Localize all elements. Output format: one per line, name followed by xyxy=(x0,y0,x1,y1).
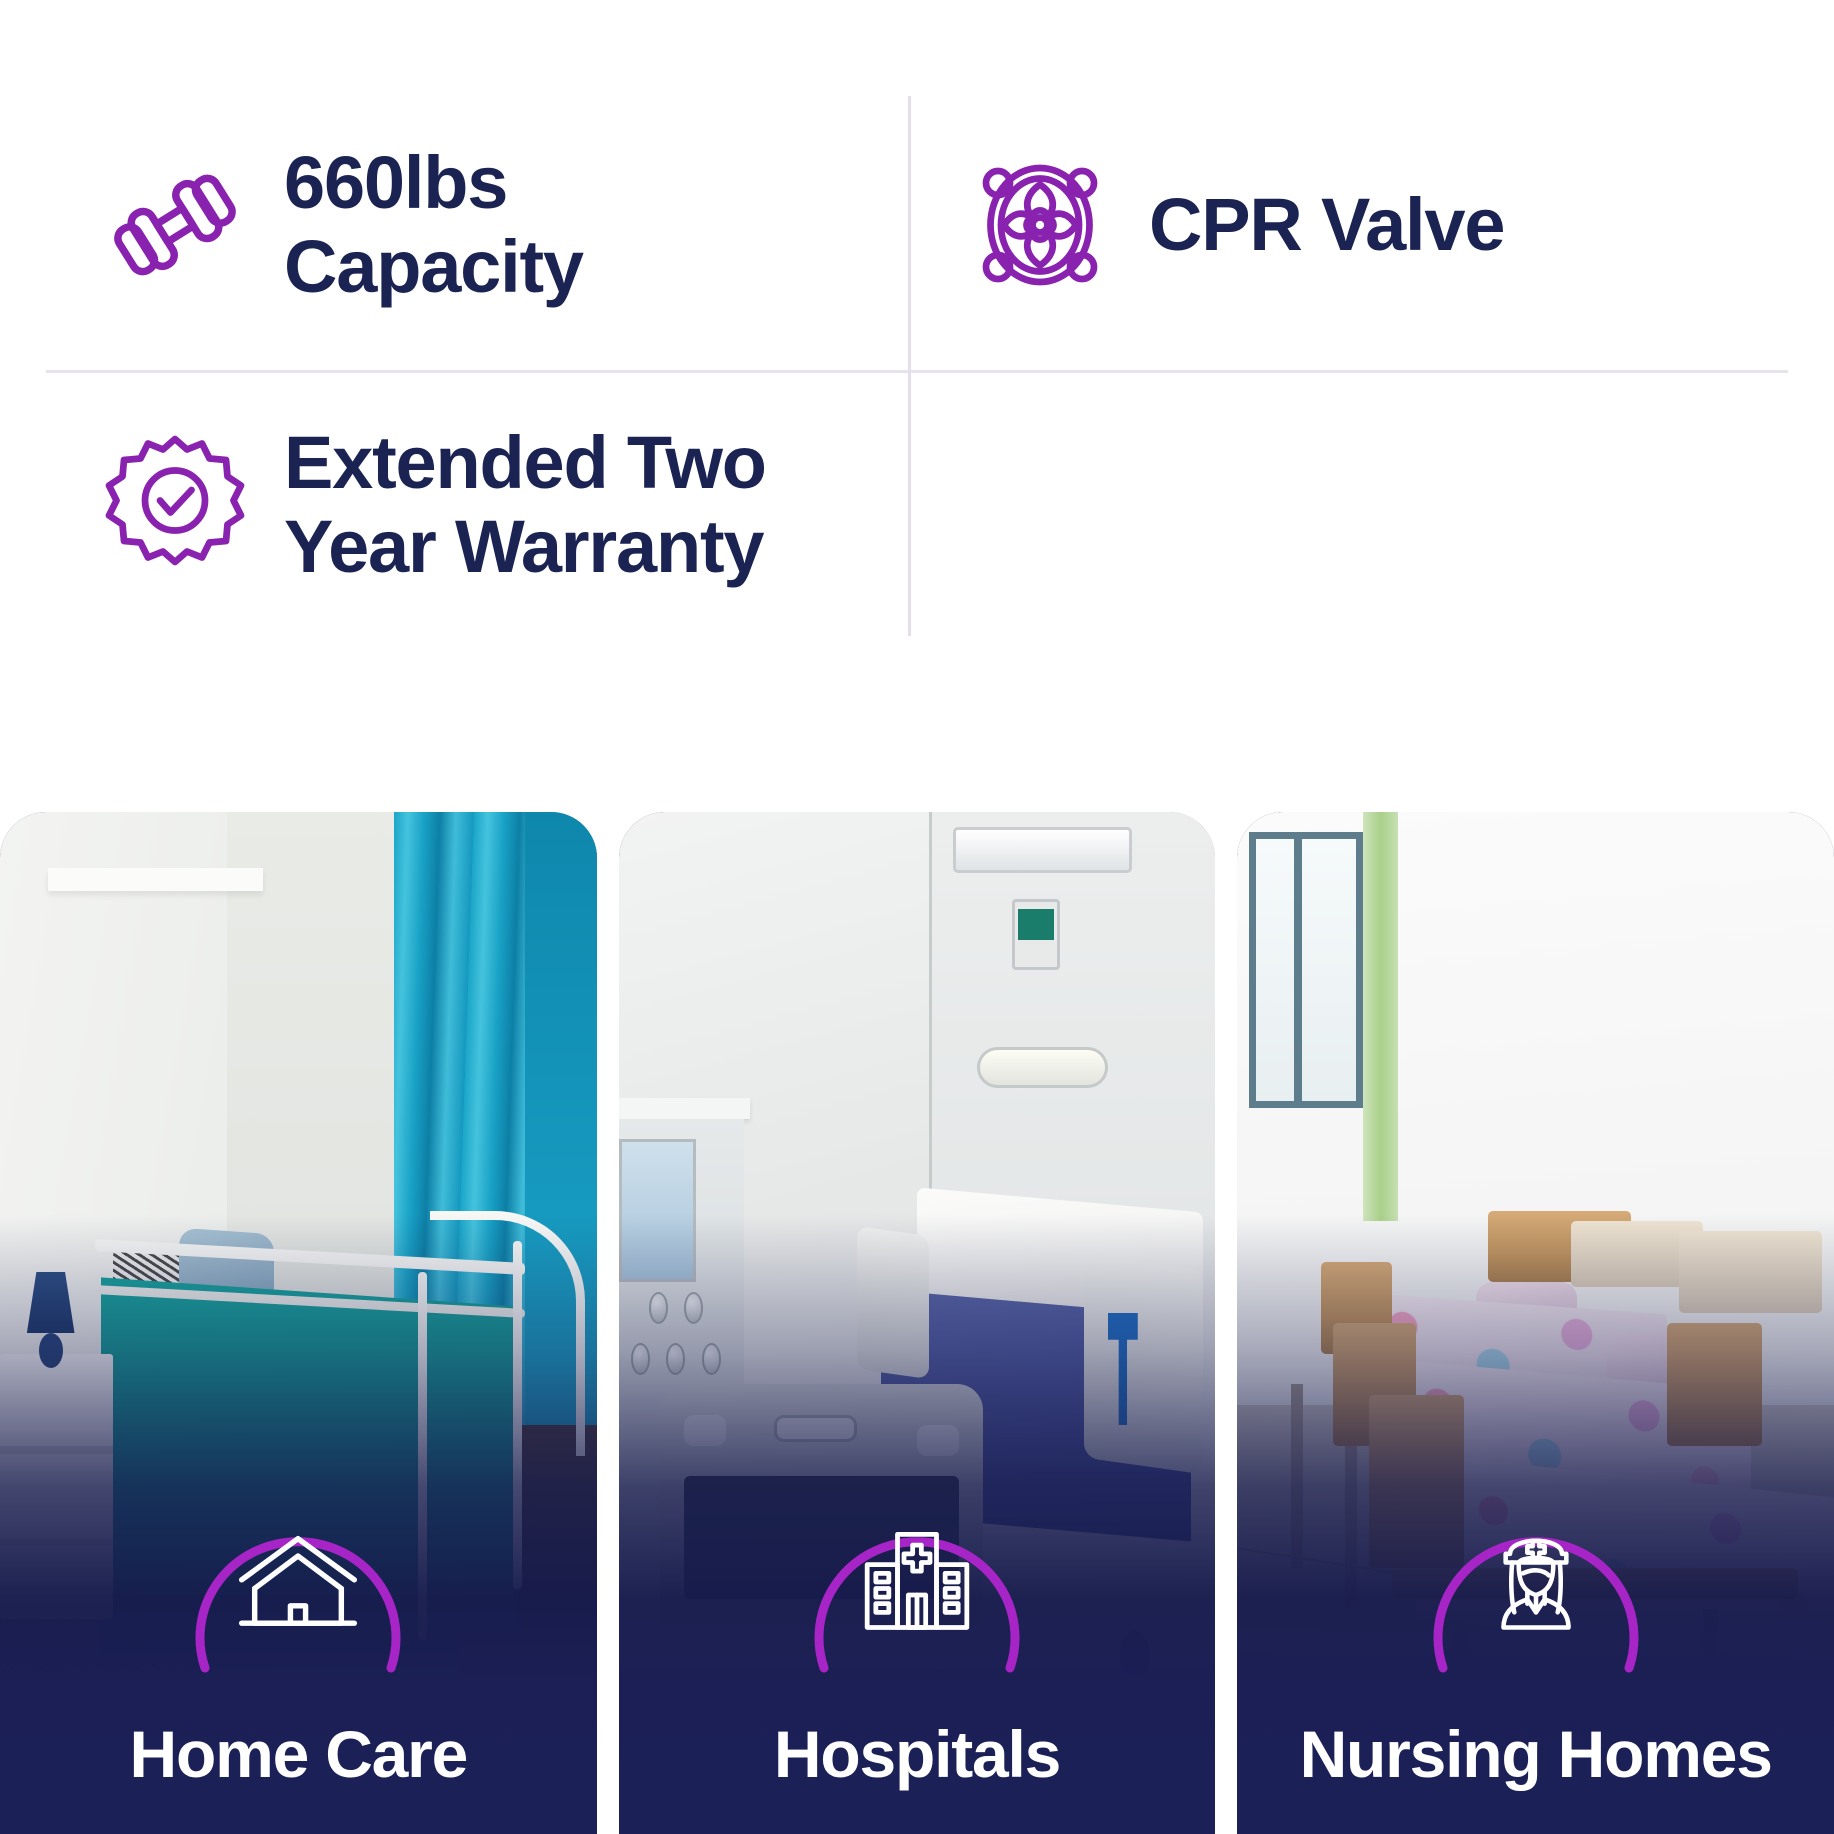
nursing-homes-footer: Nursing Homes xyxy=(1237,1474,1834,1834)
use-case-title-nursing-homes: Nursing Homes xyxy=(1300,1716,1772,1792)
cpr-valve-icon xyxy=(965,150,1115,300)
hospital-building-icon xyxy=(852,1522,982,1642)
home-care-emblem xyxy=(183,1482,413,1682)
home-care-footer: Home Care xyxy=(0,1474,597,1834)
use-case-card-row: Home Care xyxy=(0,812,1834,1834)
nursing-homes-emblem xyxy=(1421,1482,1651,1682)
use-case-card-home-care[interactable]: Home Care xyxy=(0,812,597,1834)
use-case-card-nursing-homes[interactable]: Nursing Homes xyxy=(1237,812,1834,1834)
nurse-icon xyxy=(1471,1522,1601,1642)
use-case-title-home-care: Home Care xyxy=(130,1716,468,1792)
feature-capacity: 660lbs Capacity xyxy=(100,120,860,330)
warranty-badge-icon xyxy=(100,430,250,580)
use-case-card-hospitals[interactable]: Hospitals xyxy=(619,812,1216,1834)
feature-cpr-label: CPR Valve xyxy=(1149,183,1504,267)
house-icon xyxy=(233,1522,363,1642)
feature-cpr-valve: CPR Valve xyxy=(965,120,1765,330)
dumbbell-icon xyxy=(100,150,250,300)
hospitals-footer: Hospitals xyxy=(619,1474,1216,1834)
feature-capacity-label: 660lbs Capacity xyxy=(284,141,583,308)
horizontal-divider xyxy=(46,370,1788,373)
feature-warranty: Extended Two Year Warranty xyxy=(100,400,880,610)
hospitals-emblem xyxy=(802,1482,1032,1682)
feature-warranty-label: Extended Two Year Warranty xyxy=(284,421,766,588)
use-case-title-hospitals: Hospitals xyxy=(774,1716,1060,1792)
vertical-divider xyxy=(908,96,911,636)
feature-highlight-grid: 660lbs Capacity CPR Valve xyxy=(0,0,1834,812)
